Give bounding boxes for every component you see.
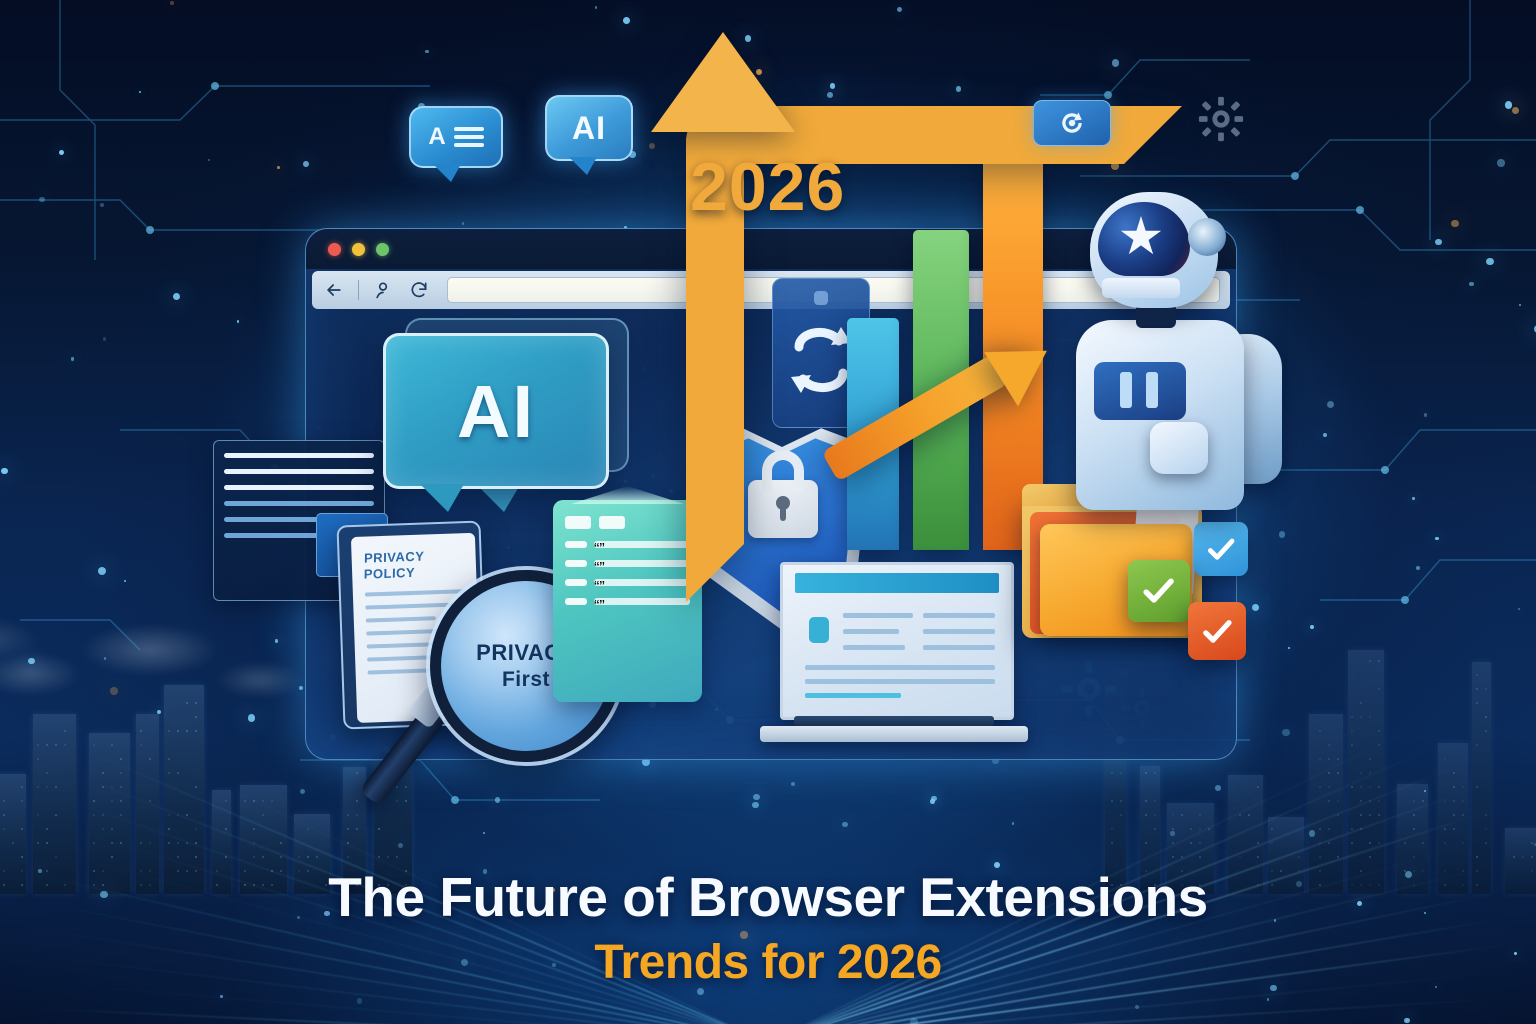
- robot-torso: [1076, 320, 1244, 510]
- sync-badge[interactable]: [1033, 100, 1111, 146]
- sync-camera-icon: [1059, 110, 1085, 136]
- robot-chest-panel: [1094, 362, 1186, 420]
- page-title: The Future of Browser Extensions: [0, 865, 1536, 929]
- check-tile-orange: [1188, 602, 1246, 660]
- settings-form-card: [553, 500, 702, 702]
- robot-mouth: [1102, 278, 1180, 298]
- ai-robot: [1062, 192, 1312, 532]
- form-chip: [565, 516, 591, 529]
- robot-ear: [1188, 218, 1226, 256]
- privacy-doc-title: PRIVACY POLICY: [364, 547, 465, 583]
- growth-arrow-2026: [608, 14, 878, 484]
- ai-chat-bubble[interactable]: AI: [545, 95, 633, 161]
- robot-visor: [1098, 202, 1190, 276]
- window-close-button[interactable]: [328, 243, 341, 256]
- robot-head: [1090, 192, 1218, 308]
- back-arrow-icon[interactable]: [322, 278, 346, 302]
- check-icon: [1200, 614, 1235, 649]
- robot-hand: [1150, 422, 1208, 474]
- check-tile-green: [1128, 560, 1190, 622]
- form-row: [565, 598, 690, 605]
- form-header: [565, 516, 690, 529]
- laptop-device: [760, 562, 1028, 750]
- translate-chat-bubble[interactable]: A: [409, 106, 503, 168]
- toolbar-divider: [358, 280, 359, 300]
- page-header-bar: [795, 573, 999, 593]
- text-line: [224, 501, 374, 506]
- magnifier-line-2: First: [502, 668, 550, 692]
- laptop-hinge: [794, 716, 994, 726]
- doc-line: [365, 589, 465, 596]
- text-lines-icon: [454, 127, 484, 147]
- ai-bubble-label: AI: [572, 110, 606, 147]
- check-icon: [1205, 533, 1237, 565]
- form-row: [565, 541, 690, 548]
- caption-block: The Future of Browser Extensions Trends …: [0, 865, 1536, 990]
- text-line: [224, 453, 374, 458]
- text-line: [224, 469, 374, 474]
- doc-line: [366, 616, 436, 622]
- gear-icon: [1197, 95, 1245, 143]
- translate-letter: A: [428, 123, 445, 151]
- reload-icon[interactable]: [407, 278, 431, 302]
- page-subtitle: Trends for 2026: [0, 935, 1536, 990]
- person-icon[interactable]: [371, 278, 395, 302]
- ai-chat-card[interactable]: AI: [383, 333, 609, 489]
- form-chip: [599, 516, 625, 529]
- check-icon: [1140, 572, 1177, 609]
- hero-banner: AI PRIVACY POLICY PRIVACY First: [0, 0, 1536, 1024]
- year-label-2026: 2026: [690, 148, 845, 226]
- text-line: [224, 485, 374, 490]
- laptop-screen: [780, 562, 1014, 720]
- form-row: [565, 579, 690, 586]
- form-row: [565, 560, 690, 567]
- doc-line: [367, 642, 437, 648]
- window-maximize-button[interactable]: [376, 243, 389, 256]
- star-icon: [1120, 216, 1162, 258]
- ai-card-label: AI: [457, 369, 535, 454]
- doc-line: [368, 668, 438, 674]
- laptop-base: [760, 726, 1028, 742]
- window-minimize-button[interactable]: [352, 243, 365, 256]
